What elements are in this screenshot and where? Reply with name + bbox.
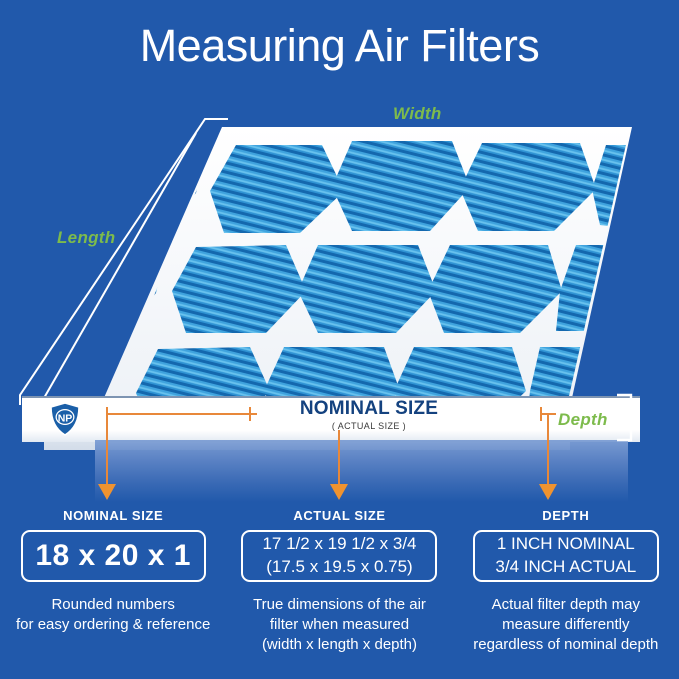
caption-line: filter when measured — [253, 615, 426, 635]
band-nominal-size-title: NOMINAL SIZE — [264, 399, 474, 419]
value-line: 1 INCH NOMINAL — [497, 533, 635, 556]
column-nominal-size: NOMINAL SIZE 18 x 20 x 1 Rounded numbers… — [0, 508, 226, 679]
actual-size-value-box: 17 1/2 x 19 1/2 x 3/4 (17.5 x 19.5 x 0.7… — [241, 530, 437, 582]
np-shield-logo-icon: NP — [48, 402, 82, 436]
value-line: 18 x 20 x 1 — [35, 539, 191, 573]
caption-line: for easy ordering & reference — [16, 615, 210, 635]
column-depth: DEPTH 1 INCH NOMINAL 3/4 INCH ACTUAL Act… — [453, 508, 679, 679]
column-caption: Actual filter depth may measure differen… — [473, 595, 658, 654]
label-width: Width — [393, 104, 442, 124]
value-line: 17 1/2 x 19 1/2 x 3/4 — [262, 533, 416, 556]
caption-line: Rounded numbers — [16, 595, 210, 615]
depth-value-box: 1 INCH NOMINAL 3/4 INCH ACTUAL — [473, 530, 659, 582]
air-filter-illustration — [0, 105, 679, 440]
column-actual-size: ACTUAL SIZE 17 1/2 x 19 1/2 x 3/4 (17.5 … — [226, 508, 452, 679]
nominal-size-value-box: 18 x 20 x 1 — [21, 530, 206, 582]
value-line: 3/4 INCH ACTUAL — [495, 556, 636, 579]
column-header: DEPTH — [542, 508, 589, 523]
caption-line: True dimensions of the air — [253, 595, 426, 615]
caption-line: measure differently — [473, 615, 658, 635]
band-nominal-size-group: NOMINAL SIZE ( ACTUAL SIZE ) — [264, 399, 474, 431]
filter-reflection — [95, 440, 628, 502]
column-header: ACTUAL SIZE — [293, 508, 385, 523]
column-caption: Rounded numbers for easy ordering & refe… — [16, 595, 210, 635]
column-header: NOMINAL SIZE — [63, 508, 163, 523]
caption-line: regardless of nominal depth — [473, 635, 658, 655]
column-caption: True dimensions of the air filter when m… — [253, 595, 426, 654]
label-depth: Depth — [558, 410, 608, 430]
label-length: Length — [57, 228, 115, 248]
band-actual-size-sub: ( ACTUAL SIZE ) — [264, 421, 474, 431]
value-line: (17.5 x 19.5 x 0.75) — [266, 556, 412, 579]
infographic-canvas: Measuring Air Filters — [0, 0, 679, 679]
page-title: Measuring Air Filters — [0, 22, 679, 69]
callout-columns: NOMINAL SIZE 18 x 20 x 1 Rounded numbers… — [0, 508, 679, 679]
caption-line: (width x length x depth) — [253, 635, 426, 655]
logo-text: NP — [58, 412, 73, 424]
caption-line: Actual filter depth may — [473, 595, 658, 615]
